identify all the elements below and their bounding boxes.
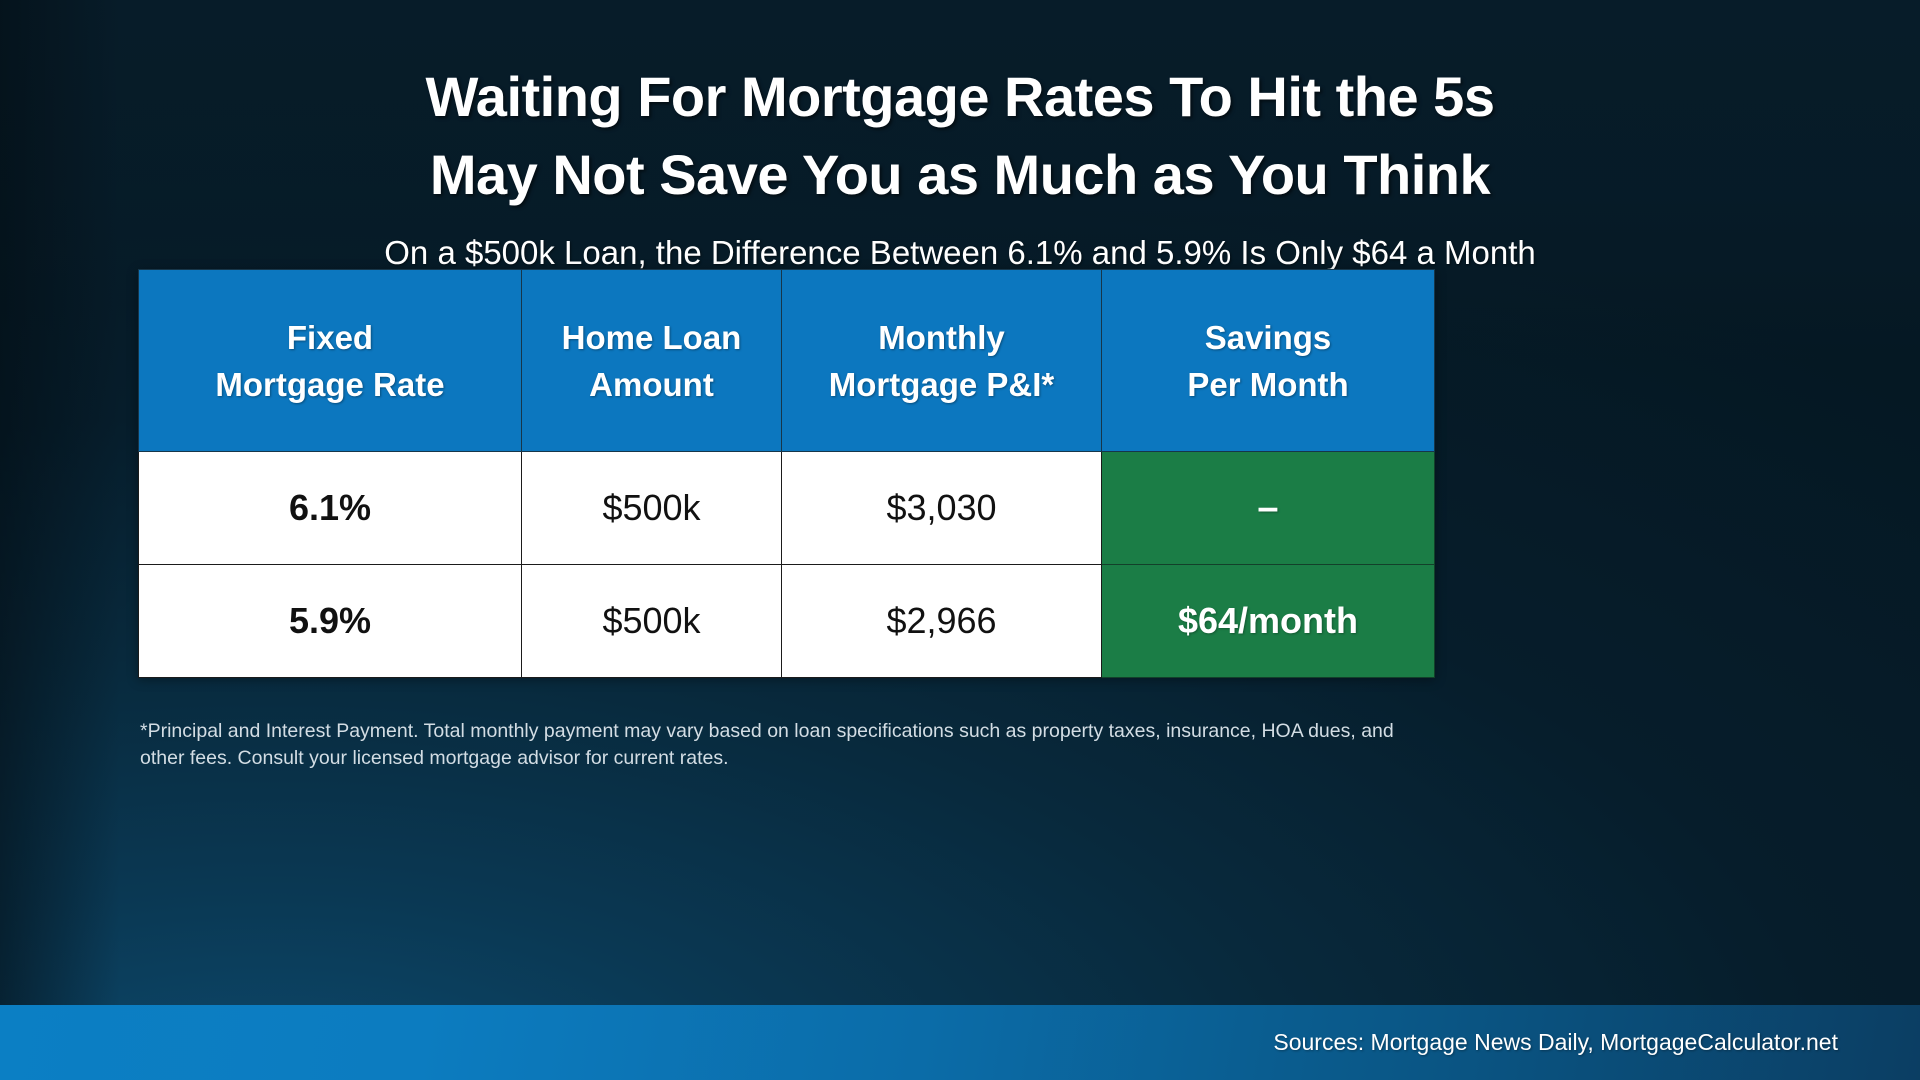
cell-rate: 6.1%: [139, 452, 522, 565]
column-header-savings-per-month: Savings Per Month: [1102, 270, 1435, 452]
table-header-row: Fixed Mortgage Rate Home Loan Amount Mon…: [139, 270, 1435, 452]
column-header-fixed-mortgage-rate: Fixed Mortgage Rate: [139, 270, 522, 452]
table-row: 6.1% $500k $3,030 –: [139, 452, 1435, 565]
page-title: Waiting For Mortgage Rates To Hit the 5s…: [0, 58, 1920, 214]
cell-loan-amount: $500k: [522, 565, 782, 678]
column-header-line-2: Mortgage P&I*: [829, 366, 1055, 403]
page-subtitle: On a $500k Loan, the Difference Between …: [0, 232, 1920, 274]
column-header-line-2: Per Month: [1187, 366, 1348, 403]
cell-monthly-payment: $2,966: [782, 565, 1102, 678]
cell-rate: 5.9%: [139, 565, 522, 678]
column-header-home-loan-amount: Home Loan Amount: [522, 270, 782, 452]
page-title-line-1: Waiting For Mortgage Rates To Hit the 5s: [0, 58, 1920, 136]
table-row: 5.9% $500k $2,966 $64/month: [139, 565, 1435, 678]
comparison-table: Fixed Mortgage Rate Home Loan Amount Mon…: [138, 269, 1435, 678]
cell-loan-amount: $500k: [522, 452, 782, 565]
column-header-line-1: Home Loan: [562, 319, 742, 356]
column-header-monthly-mortgage-pi: Monthly Mortgage P&I*: [782, 270, 1102, 452]
footnote-text: *Principal and Interest Payment. Total m…: [140, 718, 1430, 772]
infographic-stage: Waiting For Mortgage Rates To Hit the 5s…: [0, 0, 1920, 1080]
sources-text: Sources: Mortgage News Daily, MortgageCa…: [1273, 1029, 1920, 1056]
footer-bar: Sources: Mortgage News Daily, MortgageCa…: [0, 1005, 1920, 1080]
column-header-line-1: Savings: [1205, 319, 1332, 356]
page-title-line-2: May Not Save You as Much as You Think: [0, 136, 1920, 214]
cell-monthly-payment: $3,030: [782, 452, 1102, 565]
column-header-line-1: Monthly: [878, 319, 1004, 356]
column-header-line-1: Fixed: [287, 319, 373, 356]
cell-savings: $64/month: [1102, 565, 1435, 678]
cell-savings: –: [1102, 452, 1435, 565]
column-header-line-2: Amount: [589, 366, 714, 403]
column-header-line-2: Mortgage Rate: [215, 366, 444, 403]
